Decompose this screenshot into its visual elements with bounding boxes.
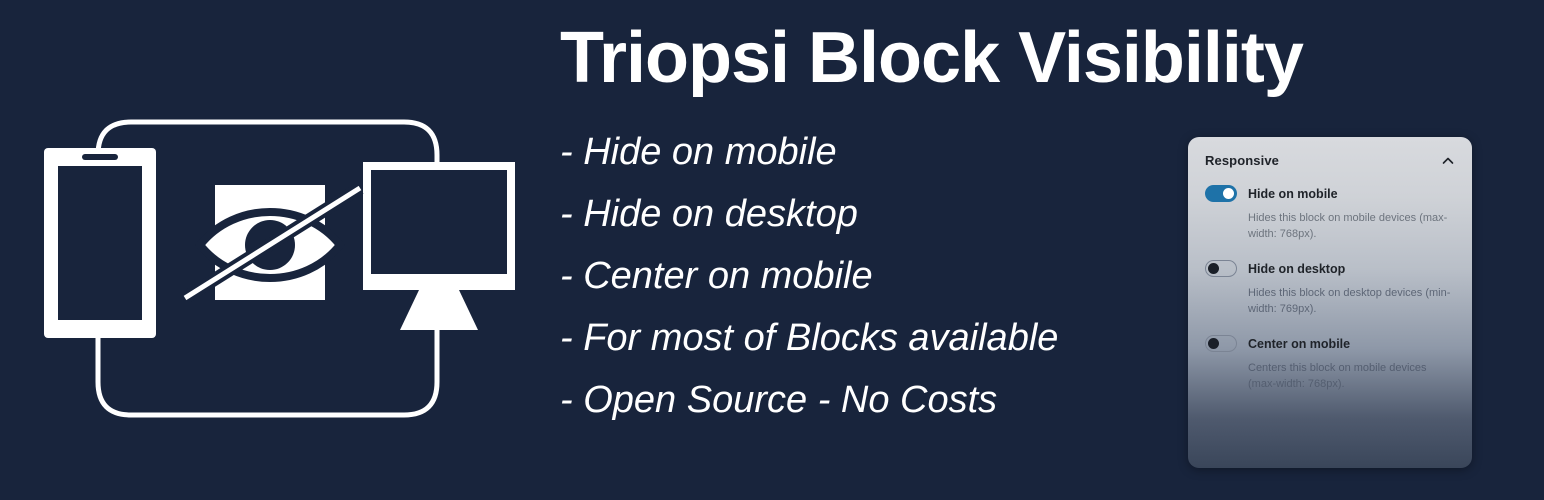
panel-header[interactable]: Responsive — [1205, 153, 1455, 168]
feature-item: - Center on mobile — [560, 246, 1260, 308]
eye-slash-icon — [185, 185, 360, 300]
setting-row-center-on-mobile[interactable]: Center on mobile — [1205, 335, 1455, 352]
text-column: Triopsi Block Visibility - Hide on mobil… — [560, 22, 1260, 432]
feature-list: - Hide on mobile - Hide on desktop - Cen… — [560, 122, 1260, 432]
toggle-knob — [1208, 338, 1219, 349]
devices-illustration — [30, 40, 530, 460]
phone-icon — [44, 148, 156, 338]
panel-title: Responsive — [1205, 153, 1279, 168]
toggle-knob — [1208, 263, 1219, 274]
toggle-hide-on-mobile[interactable] — [1205, 185, 1237, 202]
setting-label: Hide on desktop — [1248, 262, 1345, 276]
toggle-center-on-mobile[interactable] — [1205, 335, 1237, 352]
setting-row-hide-on-desktop[interactable]: Hide on desktop — [1205, 260, 1455, 277]
feature-item: - Hide on mobile — [560, 122, 1260, 184]
page-title: Triopsi Block Visibility — [560, 22, 1260, 94]
setting-description: Hides this block on mobile devices (max-… — [1248, 211, 1455, 242]
setting-description: Centers this block on mobile devices (ma… — [1248, 361, 1455, 392]
responsive-settings-panel: Responsive Hide on mobile Hides this blo… — [1188, 137, 1472, 468]
setting-row-hide-on-mobile[interactable]: Hide on mobile — [1205, 185, 1455, 202]
setting-label: Center on mobile — [1248, 337, 1350, 351]
promo-banner: Triopsi Block Visibility - Hide on mobil… — [0, 0, 1544, 500]
setting-description: Hides this block on desktop devices (min… — [1248, 286, 1455, 317]
toggle-knob — [1223, 188, 1234, 199]
feature-item: - For most of Blocks available — [560, 308, 1260, 370]
setting-label: Hide on mobile — [1248, 187, 1338, 201]
toggle-hide-on-desktop[interactable] — [1205, 260, 1237, 277]
monitor-icon — [363, 162, 515, 330]
feature-item: - Hide on desktop — [560, 184, 1260, 246]
feature-item: - Open Source - No Costs — [560, 370, 1260, 432]
chevron-up-icon[interactable] — [1441, 154, 1455, 168]
